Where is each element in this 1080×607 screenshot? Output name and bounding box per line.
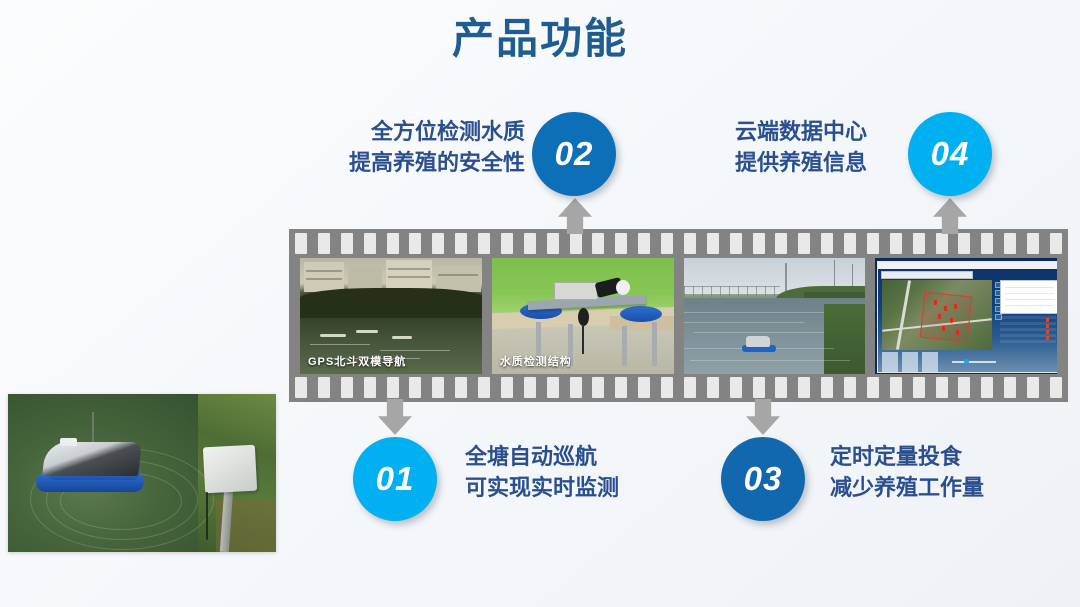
sprocket-hole <box>1027 233 1039 254</box>
shore-monitoring-station <box>203 445 257 494</box>
feature-01-line2: 可实现实时监测 <box>465 472 695 503</box>
arrow-to-01 <box>378 399 412 435</box>
sprocket-hole <box>570 233 582 254</box>
sprocket-hole <box>638 377 650 398</box>
camera-module <box>60 438 77 446</box>
feature-text-04: 云端数据中心 提供养殖信息 <box>735 116 905 178</box>
sprocket-hole <box>775 233 787 254</box>
sprocket-hole <box>592 233 604 254</box>
fence-line <box>684 286 780 297</box>
road <box>896 280 911 349</box>
propeller-cone <box>616 280 630 295</box>
arrow-to-03 <box>746 399 780 435</box>
sprocket-hole <box>958 377 970 398</box>
sprocket-hole <box>684 233 696 254</box>
speed-slider-knob[interactable] <box>964 359 969 364</box>
window-titlebar <box>878 262 1057 269</box>
sprocket-hole <box>798 233 810 254</box>
sprocket-hole <box>753 233 765 254</box>
tree-line <box>300 288 482 322</box>
feature-02-line2: 提高养殖的安全性 <box>310 147 525 178</box>
window-band <box>306 278 342 280</box>
sprocket-hole <box>547 377 559 398</box>
sprocket-hole <box>295 233 307 254</box>
sprocket-hole <box>478 233 490 254</box>
grass-bank <box>824 304 866 374</box>
unmanned-boat <box>36 438 154 494</box>
sprocket-hole <box>707 233 719 254</box>
feature-01-line1: 全塘自动巡航 <box>465 441 695 472</box>
sprocket-hole <box>867 377 879 398</box>
waypoint-marker <box>944 306 947 311</box>
sprocket-hole <box>638 233 650 254</box>
film-frame-4[interactable] <box>875 258 1057 374</box>
sprocket-hole <box>295 377 307 398</box>
sprocket-hole <box>844 233 856 254</box>
alarm-indicator <box>1046 318 1049 322</box>
sprocket-hole <box>936 377 948 398</box>
sprocket-hole <box>364 377 376 398</box>
sprocket-hole <box>936 233 948 254</box>
sprocket-hole <box>661 233 673 254</box>
sprocket-hole <box>844 377 856 398</box>
sprocket-hole <box>524 233 536 254</box>
alarm-indicator <box>1046 330 1049 334</box>
feature-badge-04[interactable]: 04 <box>908 112 992 196</box>
waypoint-marker <box>942 326 945 331</box>
ripple <box>690 360 850 361</box>
sensor-cable <box>582 324 584 354</box>
sprocket-hole <box>958 233 970 254</box>
sprocket-hole <box>1027 377 1039 398</box>
sprocket-hole <box>913 377 925 398</box>
feature-02-line1: 全方位检测水质 <box>310 116 525 147</box>
feature-text-01: 全塘自动巡航 可实现实时监测 <box>465 441 695 503</box>
sprocket-hole <box>707 377 719 398</box>
feature-badge-01[interactable]: 01 <box>353 437 437 521</box>
feature-04-line2: 提供养殖信息 <box>735 147 905 178</box>
sprocket-hole <box>318 233 330 254</box>
sprocket-hole <box>684 377 696 398</box>
waypoint-marker <box>938 314 941 319</box>
filmstrip-sprockets-bottom <box>289 377 1068 398</box>
ripple <box>684 312 824 313</box>
slide-canvas: 产品功能 <box>0 0 1080 607</box>
boat-cabin <box>746 336 770 347</box>
sprocket-hole <box>615 233 627 254</box>
window-band <box>306 270 342 272</box>
sprocket-hole <box>432 377 444 398</box>
sprocket-hole <box>501 377 513 398</box>
sprocket-hole <box>661 377 673 398</box>
sprocket-hole <box>478 377 490 398</box>
sensor-cable <box>206 492 208 540</box>
filmstrip-frames: GPS北斗双模导航 水质检测结构 <box>300 258 1057 374</box>
hero-photo[interactable] <box>8 394 276 552</box>
ripple <box>684 322 804 323</box>
sprocket-hole <box>1050 233 1062 254</box>
sprocket-hole <box>890 233 902 254</box>
sprocket-hole <box>730 233 742 254</box>
sprocket-hole <box>387 377 399 398</box>
sensor-trend-chart <box>1000 280 1057 314</box>
sprocket-hole <box>341 377 353 398</box>
alarm-indicator <box>1046 336 1049 340</box>
window-band <box>438 274 478 276</box>
feature-text-02: 全方位检测水质 提高养殖的安全性 <box>310 116 525 178</box>
sprocket-hole <box>753 377 765 398</box>
antenna <box>92 412 94 442</box>
waypoint-marker <box>934 300 937 305</box>
sprocket-hole <box>592 377 604 398</box>
frame-caption: 水质检测结构 <box>500 353 572 369</box>
waypoint-marker <box>950 318 953 323</box>
sprocket-hole <box>1004 377 1016 398</box>
sprocket-hole <box>798 377 810 398</box>
sprocket-hole <box>364 233 376 254</box>
control-box <box>554 282 598 300</box>
filmstrip-sprockets-top <box>289 233 1068 254</box>
building-shape <box>304 262 344 292</box>
feature-badge-02[interactable]: 02 <box>532 112 616 196</box>
sprocket-hole <box>547 233 559 254</box>
sprocket-hole <box>318 377 330 398</box>
waypoint-marker <box>956 330 959 335</box>
sprocket-hole <box>867 233 879 254</box>
page-title: 产品功能 <box>0 11 1080 67</box>
sprocket-hole <box>981 233 993 254</box>
software-window <box>877 261 1057 373</box>
frame-caption: GPS北斗双模导航 <box>308 353 406 369</box>
ripple <box>694 332 824 333</box>
window-menubar <box>881 271 973 279</box>
boat-pontoon <box>620 306 662 322</box>
filmstrip: GPS北斗双模导航 水质检测结构 <box>289 229 1068 402</box>
film-frame-2[interactable]: 水质检测结构 <box>492 258 674 374</box>
sprocket-hole <box>570 377 582 398</box>
sprocket-hole <box>1004 233 1016 254</box>
unmanned-boat <box>742 336 776 352</box>
feature-03-line1: 定时定量投食 <box>830 441 1060 472</box>
sprocket-hole <box>775 377 787 398</box>
boat-body <box>42 442 142 476</box>
waypoint-marker <box>954 304 957 309</box>
feature-04-line1: 云端数据中心 <box>735 116 905 147</box>
bench-leg <box>652 322 657 366</box>
sprocket-hole <box>387 233 399 254</box>
sprocket-hole <box>890 377 902 398</box>
sprocket-hole <box>821 377 833 398</box>
window-band <box>388 276 430 278</box>
feature-text-03: 定时定量投食 减少养殖工作量 <box>830 441 1060 503</box>
water-plant <box>320 334 346 337</box>
feature-03-line2: 减少养殖工作量 <box>830 472 1060 503</box>
sprocket-hole <box>615 377 627 398</box>
sprocket-hole <box>409 233 421 254</box>
water-plant <box>392 336 412 339</box>
sprocket-hole <box>501 233 513 254</box>
bench-leg <box>622 326 627 366</box>
window-band <box>388 268 430 270</box>
sprocket-hole <box>1050 377 1062 398</box>
sprocket-hole <box>409 377 421 398</box>
speed-slider[interactable] <box>952 361 996 363</box>
sprocket-hole <box>341 233 353 254</box>
satellite-map <box>882 280 992 350</box>
film-frame-1[interactable]: GPS北斗双模导航 <box>300 258 482 374</box>
command-button-row[interactable] <box>882 352 942 372</box>
feature-badge-03[interactable]: 03 <box>721 437 805 521</box>
survey-area-polygon <box>920 292 973 343</box>
ripple <box>380 350 450 351</box>
sprocket-hole <box>524 377 536 398</box>
sprocket-hole <box>432 233 444 254</box>
sprocket-hole <box>821 233 833 254</box>
water-plant <box>356 330 378 333</box>
film-frame-3[interactable] <box>684 258 866 374</box>
sprocket-hole <box>981 377 993 398</box>
sprocket-hole <box>455 233 467 254</box>
alarm-indicator <box>1046 324 1049 328</box>
sprocket-hole <box>455 377 467 398</box>
sprocket-hole <box>913 233 925 254</box>
ripple <box>310 344 370 345</box>
sprocket-hole <box>730 377 742 398</box>
